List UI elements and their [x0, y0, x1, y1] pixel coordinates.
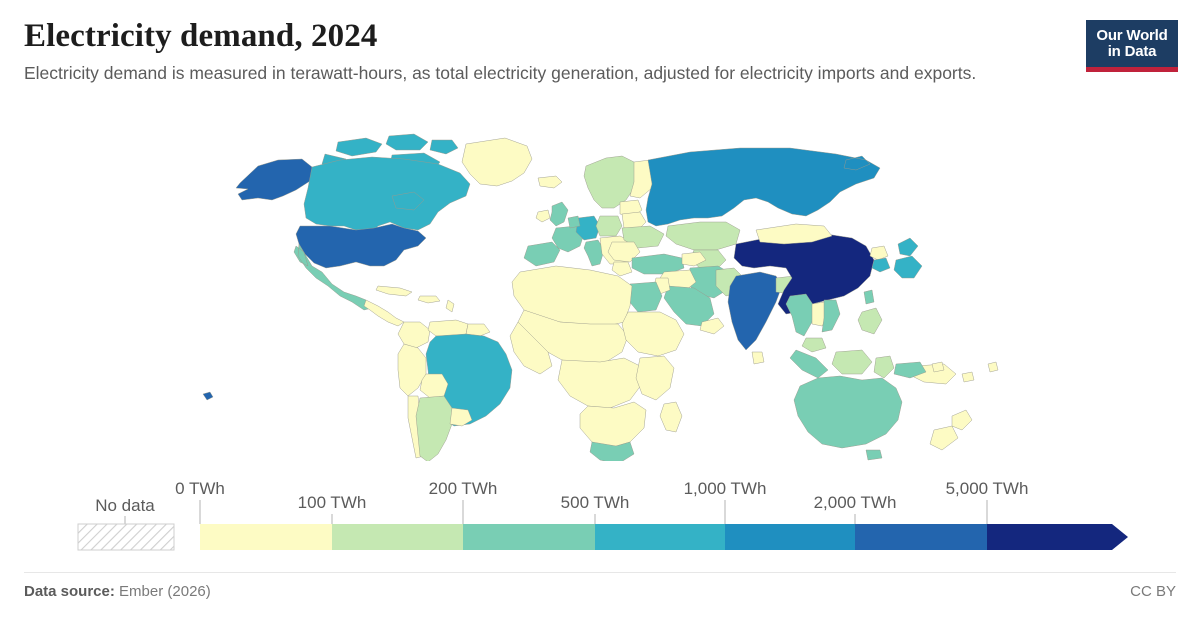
legend-no-data[interactable]: No data — [78, 496, 174, 550]
country-greece[interactable] — [612, 262, 632, 276]
country-borneo[interactable] — [832, 350, 872, 374]
country-united-states[interactable] — [296, 224, 426, 268]
country-canada-arctic-d[interactable] — [430, 140, 458, 154]
country-canada-arctic-a[interactable] — [336, 138, 382, 156]
legend-tick-label-4: 1,000 TWh — [684, 479, 767, 498]
country-east-africa[interactable] — [636, 356, 674, 400]
country-alaska[interactable] — [236, 159, 312, 200]
country-pacific-islands-a[interactable] — [932, 362, 944, 372]
legend-ticks: 0 TWh 100 TWh 200 TWh 500 TWh 1,000 TWh … — [175, 479, 1028, 524]
legend-bin-3[interactable] — [595, 524, 725, 550]
world-map-svg[interactable] — [0, 126, 1200, 461]
country-south-korea[interactable] — [872, 258, 890, 272]
country-norway-sweden-finland[interactable] — [584, 156, 638, 208]
country-sri-lanka[interactable] — [752, 352, 764, 364]
country-pacific-islands-c[interactable] — [988, 362, 998, 372]
country-southern-africa[interactable] — [580, 402, 646, 448]
country-central-america[interactable] — [364, 300, 404, 326]
country-united-kingdom[interactable] — [550, 202, 568, 226]
legend-bin-2[interactable] — [463, 524, 595, 550]
country-hawaii[interactable] — [203, 392, 213, 400]
data-source[interactable]: Data source: Ember (2026) — [24, 583, 211, 600]
country-canada-arctic-b[interactable] — [386, 134, 428, 150]
country-congo-basin[interactable] — [558, 358, 642, 408]
country-argentina[interactable] — [416, 396, 452, 461]
legend-bin-5[interactable] — [855, 524, 987, 550]
country-australia[interactable] — [794, 376, 902, 448]
country-iceland[interactable] — [538, 176, 562, 188]
country-egypt[interactable] — [628, 282, 662, 312]
country-benelux[interactable] — [568, 216, 580, 228]
map-legend[interactable]: No data 0 TWh 100 TWh 200 TWh 500 TWh — [0, 462, 1200, 562]
country-pacific-islands-b[interactable] — [962, 372, 974, 382]
country-canada[interactable] — [304, 157, 470, 234]
page-title: Electricity demand, 2024 — [24, 18, 1044, 56]
data-source-value: Ember (2026) — [115, 583, 211, 600]
country-sudan-ethiopia[interactable] — [622, 312, 684, 356]
chart-header: Electricity demand, 2024 Electricity dem… — [24, 18, 1044, 85]
legend-no-data-label: No data — [95, 496, 155, 515]
country-india[interactable] — [728, 272, 782, 350]
country-russia[interactable] — [646, 148, 880, 226]
country-lesser-antilles[interactable] — [446, 300, 454, 312]
country-philippines[interactable] — [858, 308, 882, 334]
country-kazakhstan[interactable] — [666, 222, 740, 250]
country-tasmania[interactable] — [866, 450, 882, 460]
map-countries[interactable] — [203, 134, 998, 461]
our-world-in-data-logo[interactable]: Our World in Data — [1086, 20, 1178, 72]
legend-tick-label-5: 2,000 TWh — [814, 493, 897, 512]
legend-bin-1[interactable] — [332, 524, 463, 550]
legend-no-data-swatch[interactable] — [78, 524, 174, 550]
legend-bin-4[interactable] — [725, 524, 855, 550]
country-colombia[interactable] — [398, 322, 430, 348]
country-bolivia[interactable] — [420, 374, 448, 398]
legend-tick-label-3: 500 TWh — [561, 493, 630, 512]
footer-divider — [24, 572, 1176, 573]
legend-color-bins[interactable] — [200, 524, 1128, 550]
data-source-label: Data source: — [24, 583, 115, 600]
country-cuba[interactable] — [376, 286, 412, 296]
logo-line-1: Our World — [1096, 28, 1167, 44]
country-taiwan[interactable] — [864, 290, 874, 304]
country-sulawesi[interactable] — [874, 356, 894, 378]
legend-bin-0[interactable] — [200, 524, 332, 550]
legend-svg[interactable]: No data 0 TWh 100 TWh 200 TWh 500 TWh — [0, 462, 1200, 562]
country-new-zealand[interactable] — [930, 410, 972, 450]
country-greenland[interactable] — [462, 138, 532, 186]
country-hispaniola[interactable] — [418, 296, 440, 303]
legend-tick-label-0: 0 TWh — [175, 479, 225, 498]
chart-footer: Data source: Ember (2026) CC BY — [0, 572, 1200, 612]
legend-tick-label-2: 200 TWh — [429, 479, 498, 498]
country-japan[interactable] — [894, 238, 922, 278]
country-malaysia[interactable] — [802, 338, 826, 352]
chart-subtitle: Electricity demand is measured in terawa… — [24, 62, 999, 85]
country-poland[interactable] — [596, 216, 622, 236]
country-ireland[interactable] — [536, 210, 550, 222]
legend-tick-label-1: 100 TWh — [298, 493, 367, 512]
license-label[interactable]: CC BY — [1130, 583, 1176, 600]
country-vietnam[interactable] — [822, 300, 840, 332]
legend-tick-label-6: 5,000 TWh — [946, 479, 1029, 498]
legend-bin-6-open-ended[interactable] — [987, 524, 1128, 550]
country-madagascar[interactable] — [660, 402, 682, 432]
world-choropleth-map[interactable] — [0, 126, 1200, 461]
logo-line-2: in Data — [1108, 44, 1157, 60]
country-indonesia-sumatra[interactable] — [790, 350, 828, 378]
country-spain-portugal[interactable] — [524, 242, 560, 266]
country-myanmar-thailand[interactable] — [786, 294, 814, 336]
